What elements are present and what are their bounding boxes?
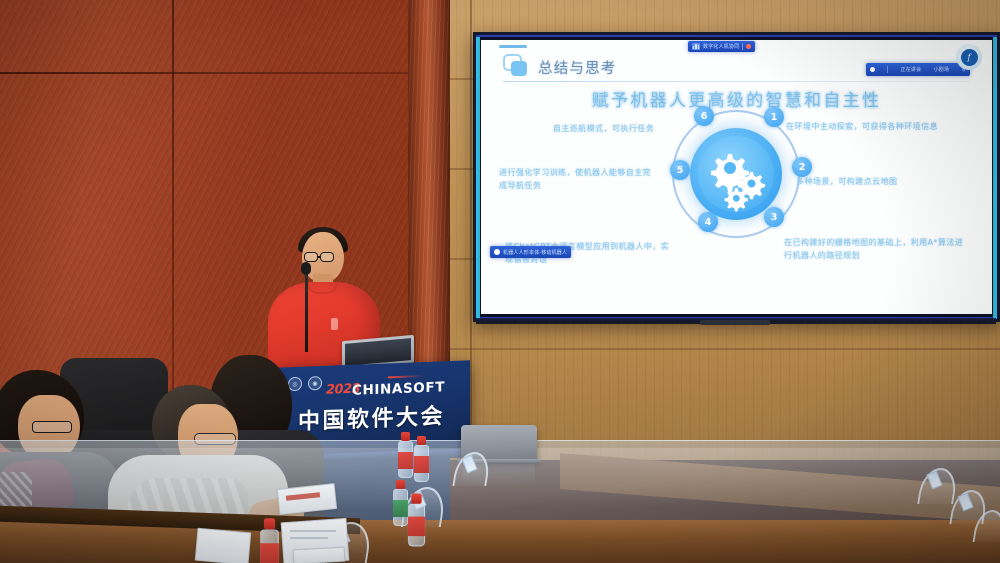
slide-bullet-left-2: 进行强化学习训练，使机器人能够自主完成导航任务 xyxy=(499,166,659,193)
live-dot-icon xyxy=(746,44,751,49)
paper-document xyxy=(293,547,346,563)
shirt-graphic xyxy=(331,318,338,330)
diagram-node-6[interactable]: 6 xyxy=(694,106,714,126)
water-bottle xyxy=(398,432,413,478)
microphone-stem xyxy=(305,268,308,352)
person-1-glasses xyxy=(32,421,72,433)
record-dot-icon xyxy=(494,249,500,255)
podium-accent-stripe xyxy=(388,375,424,378)
conference-room-scene: 总结与思考 赋予机器人更高级的智慧和自主性 1 2 3 4 xyxy=(0,0,1000,563)
podium-english-title: CHINASOFT xyxy=(352,379,445,399)
microphone-head xyxy=(301,262,311,275)
slide-bullet-left-1: 自主巡航模式，可执行任务 xyxy=(531,122,676,135)
screen-edge-glow xyxy=(476,37,480,319)
speaker-glasses-left xyxy=(304,252,318,262)
bar-chart-icon xyxy=(692,43,700,50)
water-bottle xyxy=(393,480,408,526)
speaker-glasses-right xyxy=(320,252,334,262)
watermark-top-label: 数字化人机协同 xyxy=(703,43,739,50)
paper-text-line xyxy=(290,530,336,532)
wall-panel-line xyxy=(447,348,1000,350)
logo-mark: f xyxy=(961,49,978,66)
slide-bullet-right-2: 多种场景，可构建点云地图 xyxy=(796,175,966,188)
podium-chinese-title: 中国软件大会 xyxy=(298,398,445,436)
conference-logo: f xyxy=(956,44,982,70)
speaker-glasses-bridge xyxy=(318,256,321,258)
diagram-node-5[interactable]: 5 xyxy=(670,160,690,180)
paper-document xyxy=(195,528,252,563)
slide-header-title: 总结与思考 xyxy=(538,57,617,78)
diagram-node-1[interactable]: 1 xyxy=(764,107,784,127)
screen-stand xyxy=(700,320,770,325)
organization-emblem-icon: ◉ xyxy=(308,376,322,391)
diagram-node-3[interactable]: 3 xyxy=(764,207,784,227)
wall-seam xyxy=(0,72,430,74)
water-bottle xyxy=(414,436,429,482)
water-bottle xyxy=(408,494,425,547)
paper-text-line xyxy=(290,537,328,539)
watermark-right-banner: 正在讲会 小剧场 « xyxy=(866,63,970,76)
gears-icon xyxy=(698,136,774,212)
water-bottle xyxy=(260,518,279,563)
diagram-node-2[interactable]: 2 xyxy=(792,157,812,177)
slide-bullet-right-3: 在已构建好的栅格地图的基础上，利用A*算法进行机器人的路径规划 xyxy=(784,236,969,263)
watermark-bottom-label: 机器人人形本体·移动机器人 xyxy=(503,249,567,256)
watermark-right-sub: 小剧场 xyxy=(934,66,950,73)
wall-seam xyxy=(470,0,472,460)
apple-logo-icon xyxy=(494,437,504,449)
down-arrow-icon xyxy=(870,67,875,72)
slide-surface: 总结与思考 赋予机器人更高级的智慧和自主性 1 2 3 4 xyxy=(481,40,992,314)
watermark-right-label: 正在讲会 xyxy=(901,66,922,73)
screen-edge-glow xyxy=(993,37,997,319)
slide-accent-tab xyxy=(499,45,527,48)
diagram-node-4[interactable]: 4 xyxy=(698,212,718,232)
watermark-top-banner: 数字化人机协同 xyxy=(688,41,755,52)
slide-bullet-right-1: 在环境中主动探索，可获得各种环境信息 xyxy=(786,120,962,133)
slide-header-divider xyxy=(503,81,970,82)
watermark-bottom-banner: 机器人人形本体·移动机器人 xyxy=(490,246,571,258)
slide-header-icon xyxy=(503,54,529,78)
